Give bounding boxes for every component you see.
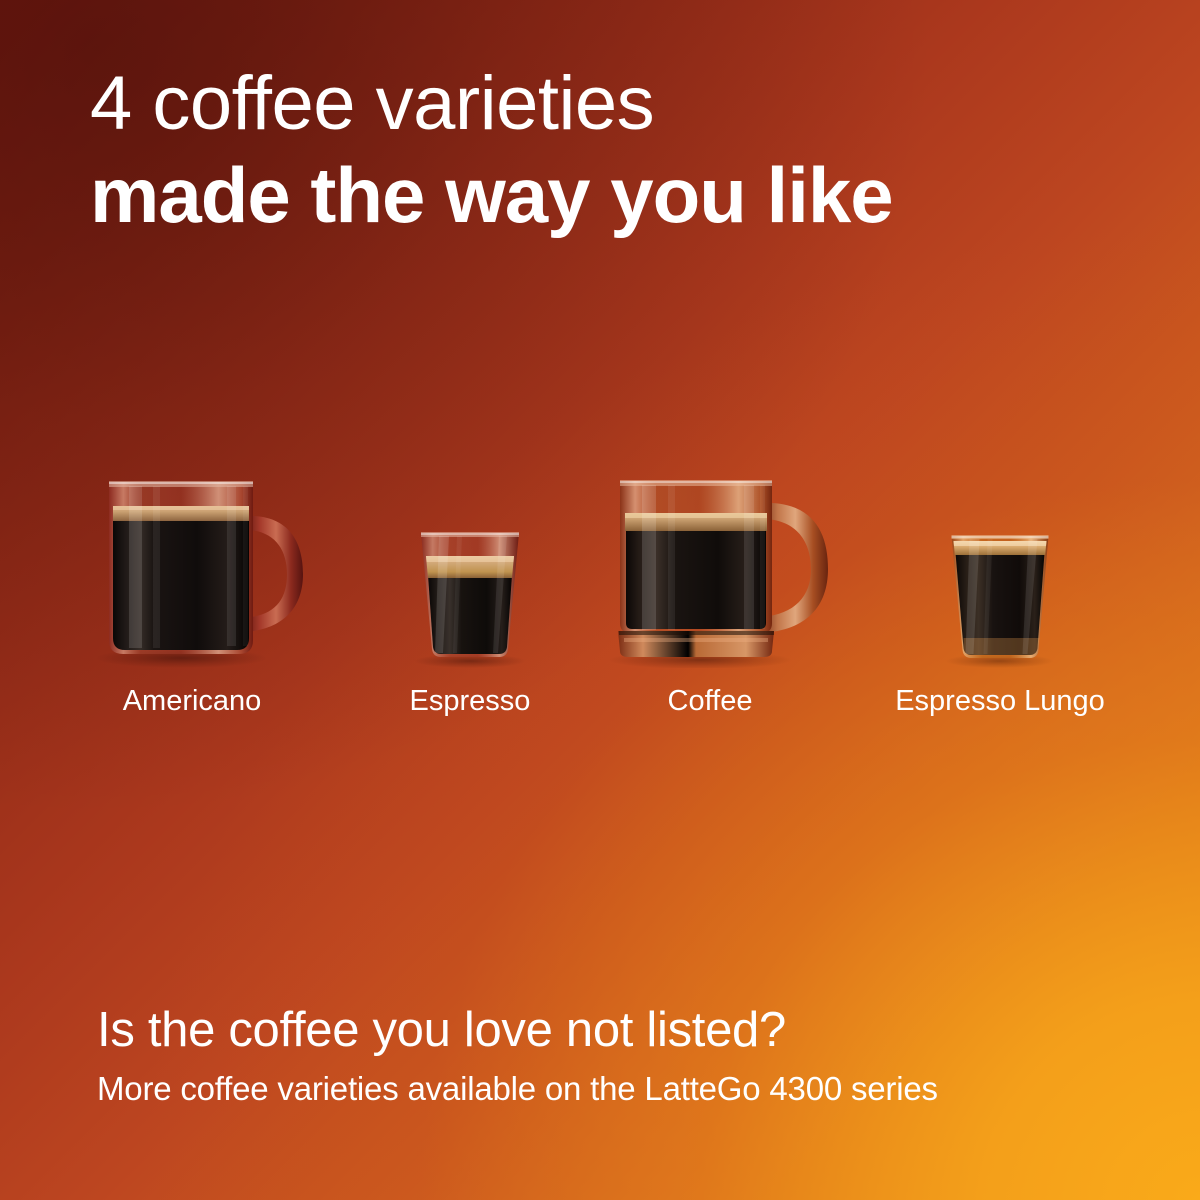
footer-question: Is the coffee you love not listed? [97,1005,1137,1056]
coffee-variety-espresso: Espresso [340,430,600,730]
poster: 4 coffee varieties made the way you like [0,0,1200,1200]
coffee-variety-coffee: Coffee [580,430,840,730]
americano-cup-icon [77,468,307,668]
espresso-cup-icon [395,523,545,668]
headline-line-1: 4 coffee varieties [90,66,1140,142]
espresso-cup-stage [340,453,600,668]
footer-subtext: More coffee varieties available on the L… [97,1070,1137,1108]
cup-label-americano: Americano [62,685,322,718]
coffee-variety-americano: Americano [62,430,322,730]
coffee-cup-stage [580,453,840,668]
espresso-lungo-cup-icon [928,528,1073,668]
coffee-variety-row: Americano [0,430,1200,730]
headline-line-2: made the way you like [90,156,1140,234]
espresso-lungo-cup-stage [870,453,1130,668]
coffee-cup-icon [590,473,830,668]
americano-cup-stage [62,453,322,668]
footer-block: Is the coffee you love not listed? More … [97,1005,1137,1108]
coffee-variety-espresso-lungo: Espresso Lungo [870,430,1130,730]
cup-label-espresso-lungo: Espresso Lungo [870,685,1130,718]
cup-label-coffee: Coffee [580,685,840,718]
headline-block: 4 coffee varieties made the way you like [90,66,1140,234]
cup-label-espresso: Espresso [340,685,600,718]
